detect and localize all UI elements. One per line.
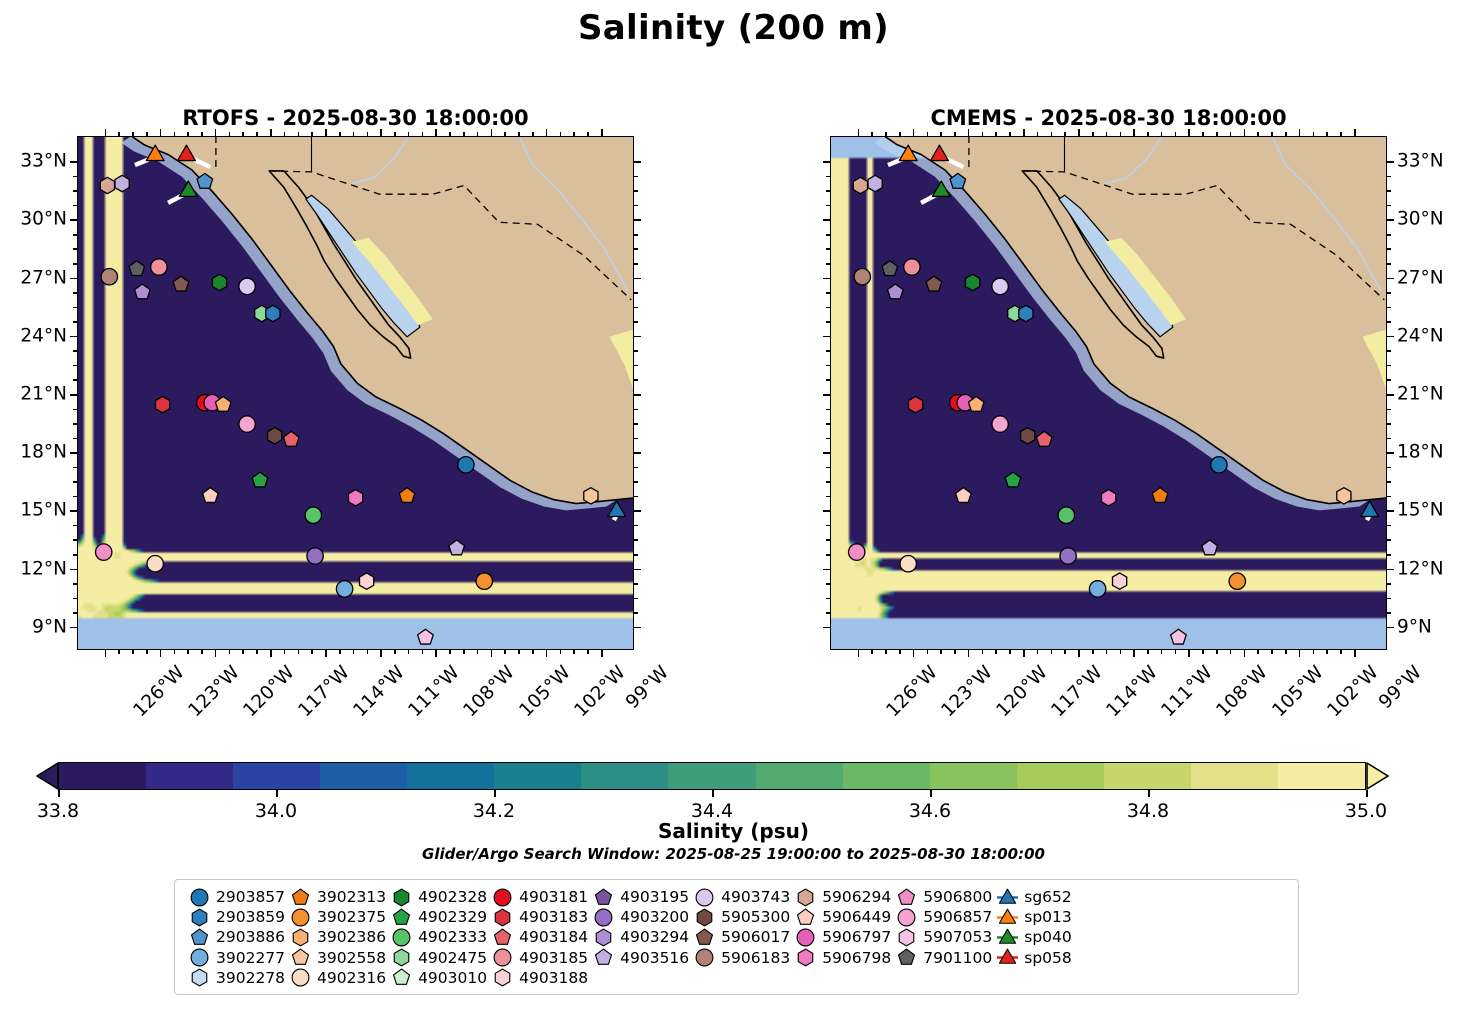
lat-tick-minor <box>634 496 638 498</box>
lon-tick-minor <box>532 132 534 136</box>
legend-item-label: 3902386 <box>315 928 386 946</box>
lat-tick-minor <box>826 496 830 498</box>
lat-tick <box>1387 161 1394 163</box>
lat-tick-label: 33°N <box>1397 151 1444 172</box>
lon-tick <box>1244 650 1246 657</box>
lon-tick-minor <box>394 132 396 136</box>
lat-tick-minor <box>1387 190 1391 192</box>
argo-float-marker[interactable] <box>1152 488 1168 503</box>
lon-tick-minor <box>1326 650 1328 654</box>
argo-float-marker[interactable] <box>336 581 352 597</box>
lat-tick <box>1387 452 1394 454</box>
legend-item-3902277[interactable]: 3902277 <box>184 948 285 968</box>
lon-tick <box>1133 650 1135 657</box>
legend-item-label: 5906857 <box>921 908 992 926</box>
legend-item-4903185[interactable]: 4903185 <box>487 948 588 968</box>
float-marker-icon <box>184 947 214 968</box>
legend-item-4902329[interactable]: 4902329 <box>386 907 487 927</box>
lat-tick <box>634 394 641 396</box>
lon-tick-minor <box>201 650 203 654</box>
lon-tick-minor <box>311 132 313 136</box>
argo-float-marker[interactable] <box>155 396 169 412</box>
lon-tick-minor <box>229 132 231 136</box>
lat-tick-label: 33°N <box>20 151 67 172</box>
legend-item-4903184[interactable]: 4903184 <box>487 927 588 947</box>
lon-tick-minor <box>174 132 176 136</box>
argo-float-marker[interactable] <box>348 490 362 506</box>
lat-tick-label: 9°N <box>32 616 67 637</box>
lat-tick <box>1387 627 1394 629</box>
legend-item-4902475[interactable]: 4902475 <box>386 948 487 968</box>
lat-tick <box>634 510 641 512</box>
lat-tick-minor <box>826 539 830 541</box>
lon-tick-minor <box>560 132 562 136</box>
float-marker-icon <box>689 907 719 928</box>
lat-tick-label: 18°N <box>1397 442 1444 463</box>
argo-float-marker[interactable] <box>1337 488 1351 504</box>
lat-tick-minor <box>634 205 638 207</box>
lat-tick <box>823 336 830 338</box>
lat-tick-minor <box>73 321 77 323</box>
lat-tick-minor <box>634 365 638 367</box>
argo-float-marker[interactable] <box>458 457 474 473</box>
legend-column: 39023133902375390238639025584902316 <box>285 887 386 987</box>
legend-column: 29038572903859290388639022773902278 <box>184 887 285 987</box>
lon-tick-minor <box>408 132 410 136</box>
lon-tick-minor <box>1257 132 1259 136</box>
legend-item-4902316[interactable]: 4902316 <box>285 968 386 988</box>
lon-tick-minor <box>1326 132 1328 136</box>
lat-tick-minor <box>634 292 638 294</box>
float-marker-icon <box>790 947 820 968</box>
lon-tick <box>105 129 107 136</box>
argo-float-marker[interactable] <box>1021 428 1035 444</box>
argo-float-marker[interactable] <box>239 278 255 294</box>
lat-tick-minor <box>634 598 638 600</box>
lon-tick <box>491 129 493 136</box>
legend-item-sp058[interactable]: sp058 <box>992 948 1072 968</box>
lon-tick <box>1354 650 1356 657</box>
legend-item-3902375[interactable]: 3902375 <box>285 907 386 927</box>
lat-tick-minor <box>826 234 830 236</box>
lon-tick <box>1188 129 1190 136</box>
lon-tick-minor <box>1161 132 1163 136</box>
legend-item-label: 5906797 <box>820 928 891 946</box>
argo-float-marker[interactable] <box>307 548 323 564</box>
lon-tick-label: 117°W <box>1047 662 1106 721</box>
glider-marker-icon <box>992 887 1022 908</box>
float-marker-icon <box>790 907 820 928</box>
argo-float-marker[interactable] <box>173 276 189 291</box>
legend-item-4903200[interactable]: 4903200 <box>588 907 689 927</box>
legend-item-label: 5906798 <box>820 949 891 967</box>
legend-item-5906017[interactable]: 5906017 <box>689 927 790 947</box>
argo-float-marker[interactable] <box>1058 507 1074 523</box>
argo-float-marker[interactable] <box>853 177 867 193</box>
lon-tick-minor <box>1313 132 1315 136</box>
argo-float-marker[interactable] <box>900 556 916 572</box>
legend-item-4903743[interactable]: 4903743 <box>689 887 790 907</box>
lon-tick-minor <box>504 132 506 136</box>
legend-item-4903183[interactable]: 4903183 <box>487 907 588 927</box>
argo-float-marker[interactable] <box>965 274 979 290</box>
lon-tick-minor <box>995 132 997 136</box>
legend-item-2903886[interactable]: 2903886 <box>184 927 285 947</box>
legend-item-4903181[interactable]: 4903181 <box>487 887 588 907</box>
lon-tick-minor <box>1037 132 1039 136</box>
lon-tick-label: 105°W <box>515 662 574 721</box>
argo-float-marker[interactable] <box>926 276 942 291</box>
lon-tick <box>1078 129 1080 136</box>
lat-tick <box>634 161 641 163</box>
lon-tick <box>325 650 327 657</box>
lat-tick-minor <box>73 190 77 192</box>
legend-item-label: sg652 <box>1022 888 1072 906</box>
lon-tick <box>1023 129 1025 136</box>
legend-item-5906800[interactable]: 5906800 <box>891 887 992 907</box>
lon-tick-label: 120°W <box>992 662 1051 721</box>
float-marker-icon <box>689 927 719 948</box>
lat-tick-label: 24°N <box>1397 325 1444 346</box>
lat-tick-minor <box>634 539 638 541</box>
lon-tick-minor <box>311 650 313 654</box>
float-marker-icon <box>184 907 214 928</box>
lon-tick <box>913 650 915 657</box>
lon-tick <box>270 650 272 657</box>
lon-tick-minor <box>1147 132 1149 136</box>
lat-tick-minor <box>73 409 77 411</box>
legend-item-3902278[interactable]: 3902278 <box>184 968 285 988</box>
float-marker-icon <box>184 927 214 948</box>
lon-tick <box>105 650 107 657</box>
lon-tick <box>546 650 548 657</box>
argo-float-marker[interactable] <box>96 544 112 560</box>
argo-float-marker[interactable] <box>100 177 114 193</box>
lat-tick <box>634 569 641 571</box>
colorbar-tick <box>930 790 932 797</box>
lat-tick <box>70 161 77 163</box>
lon-tick <box>1023 650 1025 657</box>
lon-tick-minor <box>463 650 465 654</box>
legend-item-label: 5906800 <box>921 888 992 906</box>
lon-tick-minor <box>449 650 451 654</box>
lon-tick-minor <box>367 132 369 136</box>
lat-tick-minor <box>634 307 638 309</box>
lat-tick-minor <box>826 292 830 294</box>
legend-item-3902558[interactable]: 3902558 <box>285 948 386 968</box>
argo-float-marker[interactable] <box>1036 431 1052 446</box>
lat-tick-minor <box>73 379 77 381</box>
legend-item-label: 4903195 <box>618 888 689 906</box>
legend-column: 5906800590685759070537901100 <box>891 887 992 987</box>
lat-tick-minor <box>634 350 638 352</box>
legend-item-label: 4902316 <box>315 969 386 987</box>
argo-float-marker[interactable] <box>147 556 163 572</box>
argo-float-marker[interactable] <box>1019 305 1033 321</box>
legend-item-5907053[interactable]: 5907053 <box>891 927 992 947</box>
argo-float-marker[interactable] <box>956 488 972 503</box>
legend-item-sp013[interactable]: sp013 <box>992 907 1072 927</box>
lat-tick <box>634 219 641 221</box>
legend-item-5906449[interactable]: 5906449 <box>790 907 891 927</box>
lat-tick-minor <box>1387 292 1391 294</box>
lon-tick-minor <box>1216 650 1218 654</box>
lon-tick <box>270 129 272 136</box>
lat-tick-minor <box>826 321 830 323</box>
legend-item-label: 5906449 <box>820 908 891 926</box>
lat-tick <box>634 452 641 454</box>
lat-tick <box>70 278 77 280</box>
lon-tick-minor <box>954 132 956 136</box>
lon-tick-minor <box>298 132 300 136</box>
argo-float-marker[interactable] <box>283 431 299 446</box>
legend-column: 4903195490320049032944903516 <box>588 887 689 987</box>
lon-tick-minor <box>1216 132 1218 136</box>
legend-item-4902333[interactable]: 4902333 <box>386 927 487 947</box>
legend-item-3902386[interactable]: 3902386 <box>285 927 386 947</box>
float-marker-icon <box>487 887 517 908</box>
lon-tick-minor <box>118 132 120 136</box>
legend-item-4902328[interactable]: 4902328 <box>386 887 487 907</box>
lon-tick-minor <box>954 650 956 654</box>
map-canvas-rtofs[interactable] <box>77 136 634 650</box>
argo-float-marker[interactable] <box>252 472 268 487</box>
lat-tick-label: 15°N <box>20 500 67 521</box>
float-marker-icon <box>386 907 416 928</box>
argo-float-marker[interactable] <box>101 269 117 285</box>
lat-tick-minor <box>634 438 638 440</box>
legend-item-sg652[interactable]: sg652 <box>992 887 1072 907</box>
argo-float-marker[interactable] <box>849 544 865 560</box>
lon-tick-minor <box>573 650 575 654</box>
argo-float-marker[interactable] <box>135 284 151 299</box>
legend-item-4903195[interactable]: 4903195 <box>588 887 689 907</box>
legend-item-5905300[interactable]: 5905300 <box>689 907 790 927</box>
map-canvas-cmems[interactable] <box>830 136 1387 650</box>
glider-marker-icon <box>992 907 1022 928</box>
float-marker-icon <box>891 927 921 948</box>
argo-float-marker[interactable] <box>584 488 598 504</box>
lat-tick-minor <box>634 423 638 425</box>
argo-float-marker[interactable] <box>1089 581 1105 597</box>
lat-tick-minor <box>634 379 638 381</box>
legend-item-label: 4902328 <box>416 888 487 906</box>
lon-tick-minor <box>1161 650 1163 654</box>
legend-item-5906294[interactable]: 5906294 <box>790 887 891 907</box>
lon-tick-minor <box>518 132 520 136</box>
argo-float-marker[interactable] <box>1101 490 1115 506</box>
legend: 2903857290385929038863902277390227839023… <box>174 879 1299 995</box>
argo-float-marker[interactable] <box>992 278 1008 294</box>
legend-item-2903857[interactable]: 2903857 <box>184 887 285 907</box>
lon-tick-minor <box>284 132 286 136</box>
argo-float-marker[interactable] <box>212 274 226 290</box>
lat-tick-label: 24°N <box>20 325 67 346</box>
lon-tick-minor <box>518 650 520 654</box>
legend-column: 4903743590530059060175906183 <box>689 887 790 987</box>
lon-tick-minor <box>284 650 286 654</box>
lat-tick-label: 21°N <box>20 383 67 404</box>
legend-column: 5906294590644959067975906798 <box>790 887 891 987</box>
lon-tick-minor <box>146 132 148 136</box>
lat-tick-minor <box>826 248 830 250</box>
lat-tick-minor <box>826 598 830 600</box>
legend-item-sp040[interactable]: sp040 <box>992 927 1072 947</box>
argo-float-marker[interactable] <box>882 261 898 276</box>
map-panel-cmems: CMEMS - 2025-08-30 18:00:009°N12°N15°N18… <box>830 136 1387 650</box>
legend-item-5906798[interactable]: 5906798 <box>790 948 891 968</box>
argo-float-marker[interactable] <box>888 284 904 299</box>
argo-float-marker[interactable] <box>266 305 280 321</box>
argo-float-marker[interactable] <box>1060 548 1076 564</box>
legend-item-label: 7901100 <box>921 949 992 967</box>
lon-tick-minor <box>995 650 997 654</box>
lat-tick <box>70 394 77 396</box>
legend-item-4903516[interactable]: 4903516 <box>588 948 689 968</box>
legend-item-label: 4902329 <box>416 908 487 926</box>
lon-tick-label: 123°W <box>937 662 996 721</box>
lon-tick <box>380 650 382 657</box>
lat-tick-minor <box>73 583 77 585</box>
argo-float-marker[interactable] <box>239 416 255 432</box>
lat-tick-label: 27°N <box>20 267 67 288</box>
argo-float-marker[interactable] <box>1211 457 1227 473</box>
lat-tick-minor <box>634 525 638 527</box>
lon-tick-minor <box>871 650 873 654</box>
lat-tick-label: 15°N <box>1397 500 1444 521</box>
lat-tick-minor <box>826 350 830 352</box>
argo-float-marker[interactable] <box>129 261 145 276</box>
legend-item-label: sp013 <box>1022 908 1072 926</box>
argo-float-marker[interactable] <box>115 175 129 191</box>
argo-float-marker[interactable] <box>399 488 415 503</box>
float-marker-icon <box>386 967 416 988</box>
lat-tick-minor <box>634 612 638 614</box>
argo-float-marker[interactable] <box>449 540 465 555</box>
lon-tick <box>1133 129 1135 136</box>
legend-item-label: 4903743 <box>719 888 790 906</box>
lat-tick-minor <box>73 539 77 541</box>
legend-item-7901100[interactable]: 7901100 <box>891 948 992 968</box>
argo-float-marker[interactable] <box>854 269 870 285</box>
lon-tick-minor <box>1175 650 1177 654</box>
float-marker-icon <box>386 947 416 968</box>
lon-tick-label: 108°W <box>1213 662 1272 721</box>
lon-tick-minor <box>242 650 244 654</box>
lat-tick-minor <box>826 190 830 192</box>
argo-float-marker[interactable] <box>305 507 321 523</box>
legend-item-label: 4903185 <box>517 949 588 967</box>
argo-float-marker[interactable] <box>904 259 920 275</box>
colorbar-extend-max <box>1366 762 1389 790</box>
colorbar-tick <box>58 790 60 797</box>
lon-tick-minor <box>1340 650 1342 654</box>
lon-tick-minor <box>1064 132 1066 136</box>
legend-item-4903188[interactable]: 4903188 <box>487 968 588 988</box>
argo-float-marker[interactable] <box>1229 573 1245 589</box>
lat-tick-minor <box>634 176 638 178</box>
lon-tick-minor <box>1257 650 1259 654</box>
lat-tick <box>823 278 830 280</box>
lon-tick-label: 123°W <box>184 662 243 721</box>
argo-float-marker[interactable] <box>908 396 922 412</box>
argo-float-marker[interactable] <box>1005 472 1021 487</box>
lat-tick-minor <box>826 554 830 556</box>
lon-tick <box>1354 129 1356 136</box>
lat-tick <box>823 219 830 221</box>
lat-tick-minor <box>73 554 77 556</box>
lon-tick-label: 99°W <box>622 662 673 713</box>
lat-tick <box>70 219 77 221</box>
argo-float-marker[interactable] <box>268 428 282 444</box>
legend-item-5906797[interactable]: 5906797 <box>790 927 891 947</box>
float-marker-icon <box>588 907 618 928</box>
colorbar-tick <box>1366 790 1368 797</box>
legend-item-4903010[interactable]: 4903010 <box>386 968 487 988</box>
lat-tick-label: 30°N <box>1397 209 1444 230</box>
lat-tick-minor <box>1387 176 1391 178</box>
lon-tick <box>435 129 437 136</box>
lat-tick-minor <box>73 234 77 236</box>
lon-tick-minor <box>229 650 231 654</box>
lon-tick <box>1244 129 1246 136</box>
lon-tick-minor <box>1120 132 1122 136</box>
argo-float-marker[interactable] <box>418 629 434 644</box>
legend-item-5906857[interactable]: 5906857 <box>891 907 992 927</box>
lon-tick-minor <box>982 132 984 136</box>
lat-tick <box>1387 336 1394 338</box>
lon-tick-minor <box>1064 650 1066 654</box>
lat-tick-minor <box>1387 539 1391 541</box>
colorbar[interactable]: 33.834.034.234.434.634.835.0 <box>36 762 1388 790</box>
legend-column: 49031814903183490318449031854903188 <box>487 887 588 987</box>
lon-tick-minor <box>256 650 258 654</box>
legend-item-5906183[interactable]: 5906183 <box>689 948 790 968</box>
argo-float-marker[interactable] <box>203 488 219 503</box>
argo-float-marker[interactable] <box>151 259 167 275</box>
lon-tick-minor <box>982 650 984 654</box>
lon-tick-minor <box>927 132 929 136</box>
lon-tick <box>325 129 327 136</box>
lon-tick <box>1078 650 1080 657</box>
lat-tick-minor <box>634 409 638 411</box>
argo-float-marker[interactable] <box>476 573 492 589</box>
lat-tick <box>1387 569 1394 571</box>
argo-float-marker[interactable] <box>1202 540 1218 555</box>
lon-tick-minor <box>1285 132 1287 136</box>
argo-float-marker[interactable] <box>992 416 1008 432</box>
lon-tick-minor <box>1051 132 1053 136</box>
lat-tick <box>823 161 830 163</box>
argo-float-marker[interactable] <box>360 573 374 589</box>
lat-tick-minor <box>1387 496 1391 498</box>
lon-tick-minor <box>1092 650 1094 654</box>
float-marker-icon <box>285 967 315 988</box>
lon-tick-label: 108°W <box>460 662 519 721</box>
lat-tick-minor <box>826 205 830 207</box>
lon-tick-label: 99°W <box>1375 662 1426 713</box>
legend-item-4903294[interactable]: 4903294 <box>588 927 689 947</box>
argo-float-marker[interactable] <box>1171 629 1187 644</box>
legend-item-label: sp040 <box>1022 928 1072 946</box>
lat-tick-minor <box>73 263 77 265</box>
lon-tick-label: 114°W <box>350 662 409 721</box>
legend-item-2903859[interactable]: 2903859 <box>184 907 285 927</box>
legend-item-3902313[interactable]: 3902313 <box>285 887 386 907</box>
argo-float-marker[interactable] <box>868 175 882 191</box>
lon-tick <box>601 650 603 657</box>
argo-float-marker[interactable] <box>1113 573 1127 589</box>
